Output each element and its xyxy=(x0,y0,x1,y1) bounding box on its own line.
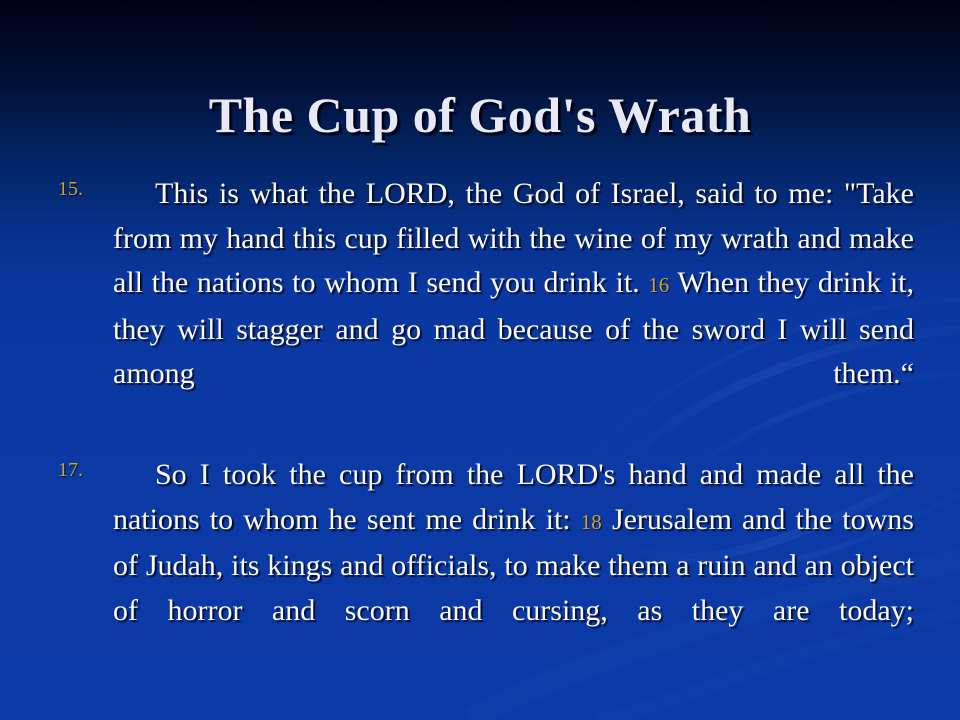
page-title: The Cup of God's Wrath xyxy=(209,86,752,144)
list-item: 15. This is what the LORD, the God of Is… xyxy=(46,172,914,441)
list-item-number: 15. xyxy=(58,179,104,199)
verse-number: 16 xyxy=(648,273,669,297)
list-item-text: This is what the LORD, the God of Israel… xyxy=(113,172,914,441)
slide-title-container: The Cup of God's Wrath xyxy=(0,52,960,177)
list-item: 17. So I took the cup from the LORD's ha… xyxy=(46,453,914,678)
list-item-text: So I took the cup from the LORD's hand a… xyxy=(113,453,914,678)
presentation-slide: The Cup of God's Wrath 15. This is what … xyxy=(0,0,960,720)
list-item-number: 17. xyxy=(58,460,104,480)
slide-body: 15. This is what the LORD, the God of Is… xyxy=(46,172,914,682)
verse-number: 18 xyxy=(581,510,602,534)
